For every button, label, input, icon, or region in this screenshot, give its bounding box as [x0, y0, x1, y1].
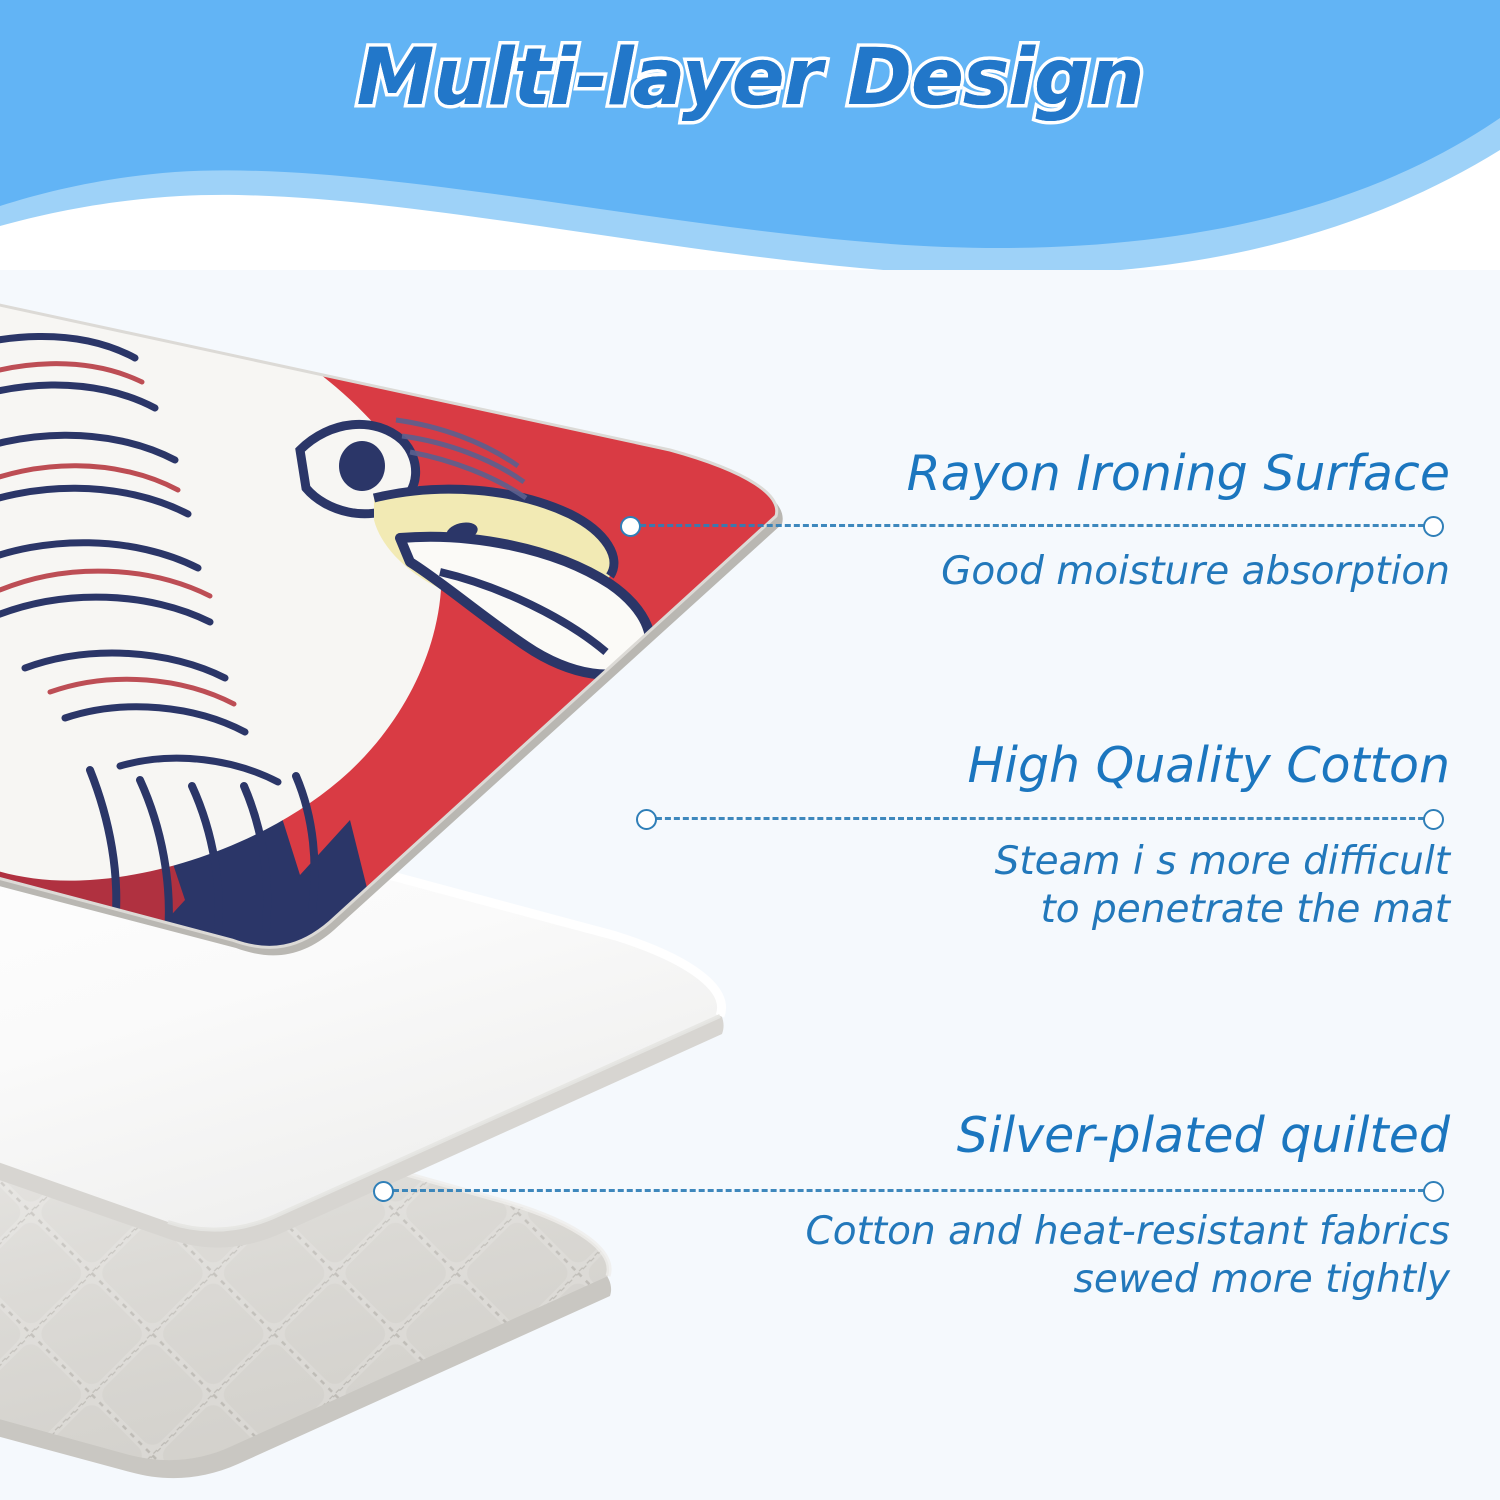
callout-group: Rayon Ironing Surface Good moisture abso… [0, 0, 1500, 1500]
leader-anchor-icon [1423, 1181, 1444, 1202]
callout-cotton-heading: High Quality Cotton [860, 740, 1450, 791]
callout-cotton-subtitle-line-1: Steam i s more difficult [860, 838, 1450, 886]
leader-dash [375, 1189, 1442, 1192]
leader-endpoint-icon [620, 516, 641, 537]
leader-line-rayon [622, 513, 1442, 537]
infographic-canvas: Multi-layer Design Multi-layer Design [0, 0, 1500, 1500]
callout-quilted-subtitle: Cotton and heat-resistant fabrics sewed … [790, 1208, 1450, 1303]
leader-anchor-icon [1423, 809, 1444, 830]
callout-quilted-subtitle-line-1: Cotton and heat-resistant fabrics [790, 1208, 1450, 1256]
leader-line-quilted [375, 1178, 1442, 1202]
callout-rayon-subtitle-line: Good moisture absorption [860, 548, 1450, 596]
leader-dash [622, 524, 1442, 527]
leader-endpoint-icon [373, 1181, 394, 1202]
callout-quilted: Silver-plated quilted [850, 1110, 1450, 1161]
leader-endpoint-icon [636, 809, 657, 830]
callout-cotton: High Quality Cotton [860, 740, 1450, 791]
callout-rayon-heading: Rayon Ironing Surface [860, 448, 1450, 499]
callout-cotton-subtitle-line-2: to penetrate the mat [860, 886, 1450, 934]
leader-anchor-icon [1423, 516, 1444, 537]
callout-quilted-subtitle-line-2: sewed more tightly [790, 1256, 1450, 1304]
leader-line-cotton [638, 806, 1442, 830]
callout-cotton-subtitle: Steam i s more difficult to penetrate th… [860, 838, 1450, 933]
leader-dash [638, 817, 1442, 820]
callout-rayon-subtitle: Good moisture absorption [860, 548, 1450, 596]
callout-rayon: Rayon Ironing Surface [860, 448, 1450, 499]
callout-quilted-heading: Silver-plated quilted [850, 1110, 1450, 1161]
